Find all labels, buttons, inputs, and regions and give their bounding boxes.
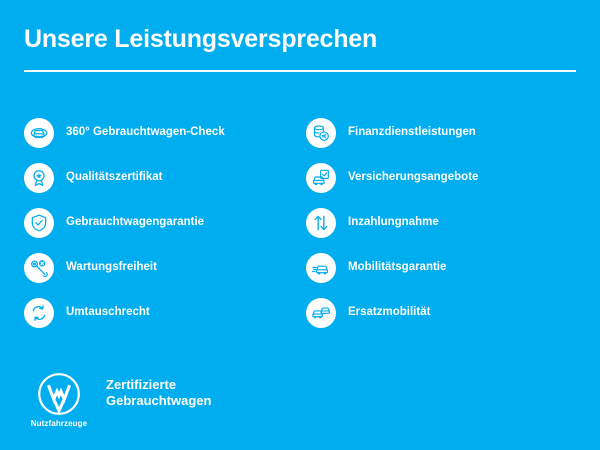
wrench-gear-icon [24,253,54,283]
brand-footer: Nutzfahrzeuge Zertifizierte Gebrauchtwag… [28,372,211,428]
brand-claim: Zertifizierte Gebrauchtwagen [106,372,211,410]
title-divider [24,70,576,72]
feature-item-exchange-right[interactable]: Umtauschrecht [24,290,294,335]
brand-claim-line1: Zertifizierte [106,377,211,393]
award-rosette-icon [24,163,54,193]
feature-columns: 360° Gebrauchtwagen-Check Qualitätszerti… [24,110,576,335]
header: Unsere Leistungsversprechen [24,26,576,72]
feature-label: Finanzdienstleistungen [348,126,476,140]
feature-column-right: Finanzdienstleistungen Versicherungsange… [294,110,576,335]
exchange-arrows-icon [24,298,54,328]
shield-check-icon [24,208,54,238]
brand-claim-line2: Gebrauchtwagen [106,393,211,409]
feature-label: Wartungsfreiheit [66,261,157,275]
up-down-arrows-icon [306,208,336,238]
two-cars-icon [306,298,336,328]
feature-label: Gebrauchtwagengarantie [66,216,204,230]
car-document-check-icon [306,163,336,193]
feature-label: 360° Gebrauchtwagen-Check [66,126,225,140]
feature-item-replacement-mobility[interactable]: Ersatzmobilität [306,290,576,335]
feature-item-insurance-offers[interactable]: Versicherungsangebote [306,155,576,200]
feature-item-maintenance-free[interactable]: Wartungsfreiheit [24,245,294,290]
feature-item-financial-services[interactable]: Finanzdienstleistungen [306,110,576,155]
volkswagen-logo [37,372,81,416]
feature-label: Ersatzmobilität [348,306,430,320]
feature-column-left: 360° Gebrauchtwagen-Check Qualitätszerti… [24,110,294,335]
logo-subtitle: Nutzfahrzeuge [31,419,87,428]
feature-label: Umtauschrecht [66,306,150,320]
feature-item-trade-in[interactable]: Inzahlungnahme [306,200,576,245]
feature-label: Versicherungsangebote [348,171,478,185]
feature-label: Mobilitätsgarantie [348,261,446,275]
feature-item-quality-certificate[interactable]: Qualitätszertifikat [24,155,294,200]
page-title: Unsere Leistungsversprechen [24,26,576,54]
feature-label: Qualitätszertifikat [66,171,163,185]
van-motion-icon [306,253,336,283]
coins-euro-icon [306,118,336,148]
feature-item-360-check[interactable]: 360° Gebrauchtwagen-Check [24,110,294,155]
slide-root: Unsere Leistungsversprechen 360° Gebrauc… [0,0,600,450]
feature-item-mobility-guarantee[interactable]: Mobilitätsgarantie [306,245,576,290]
car-360-check-icon [24,118,54,148]
feature-label: Inzahlungnahme [348,216,439,230]
logo-block: Nutzfahrzeuge [28,372,90,428]
feature-item-warranty[interactable]: Gebrauchtwagengarantie [24,200,294,245]
